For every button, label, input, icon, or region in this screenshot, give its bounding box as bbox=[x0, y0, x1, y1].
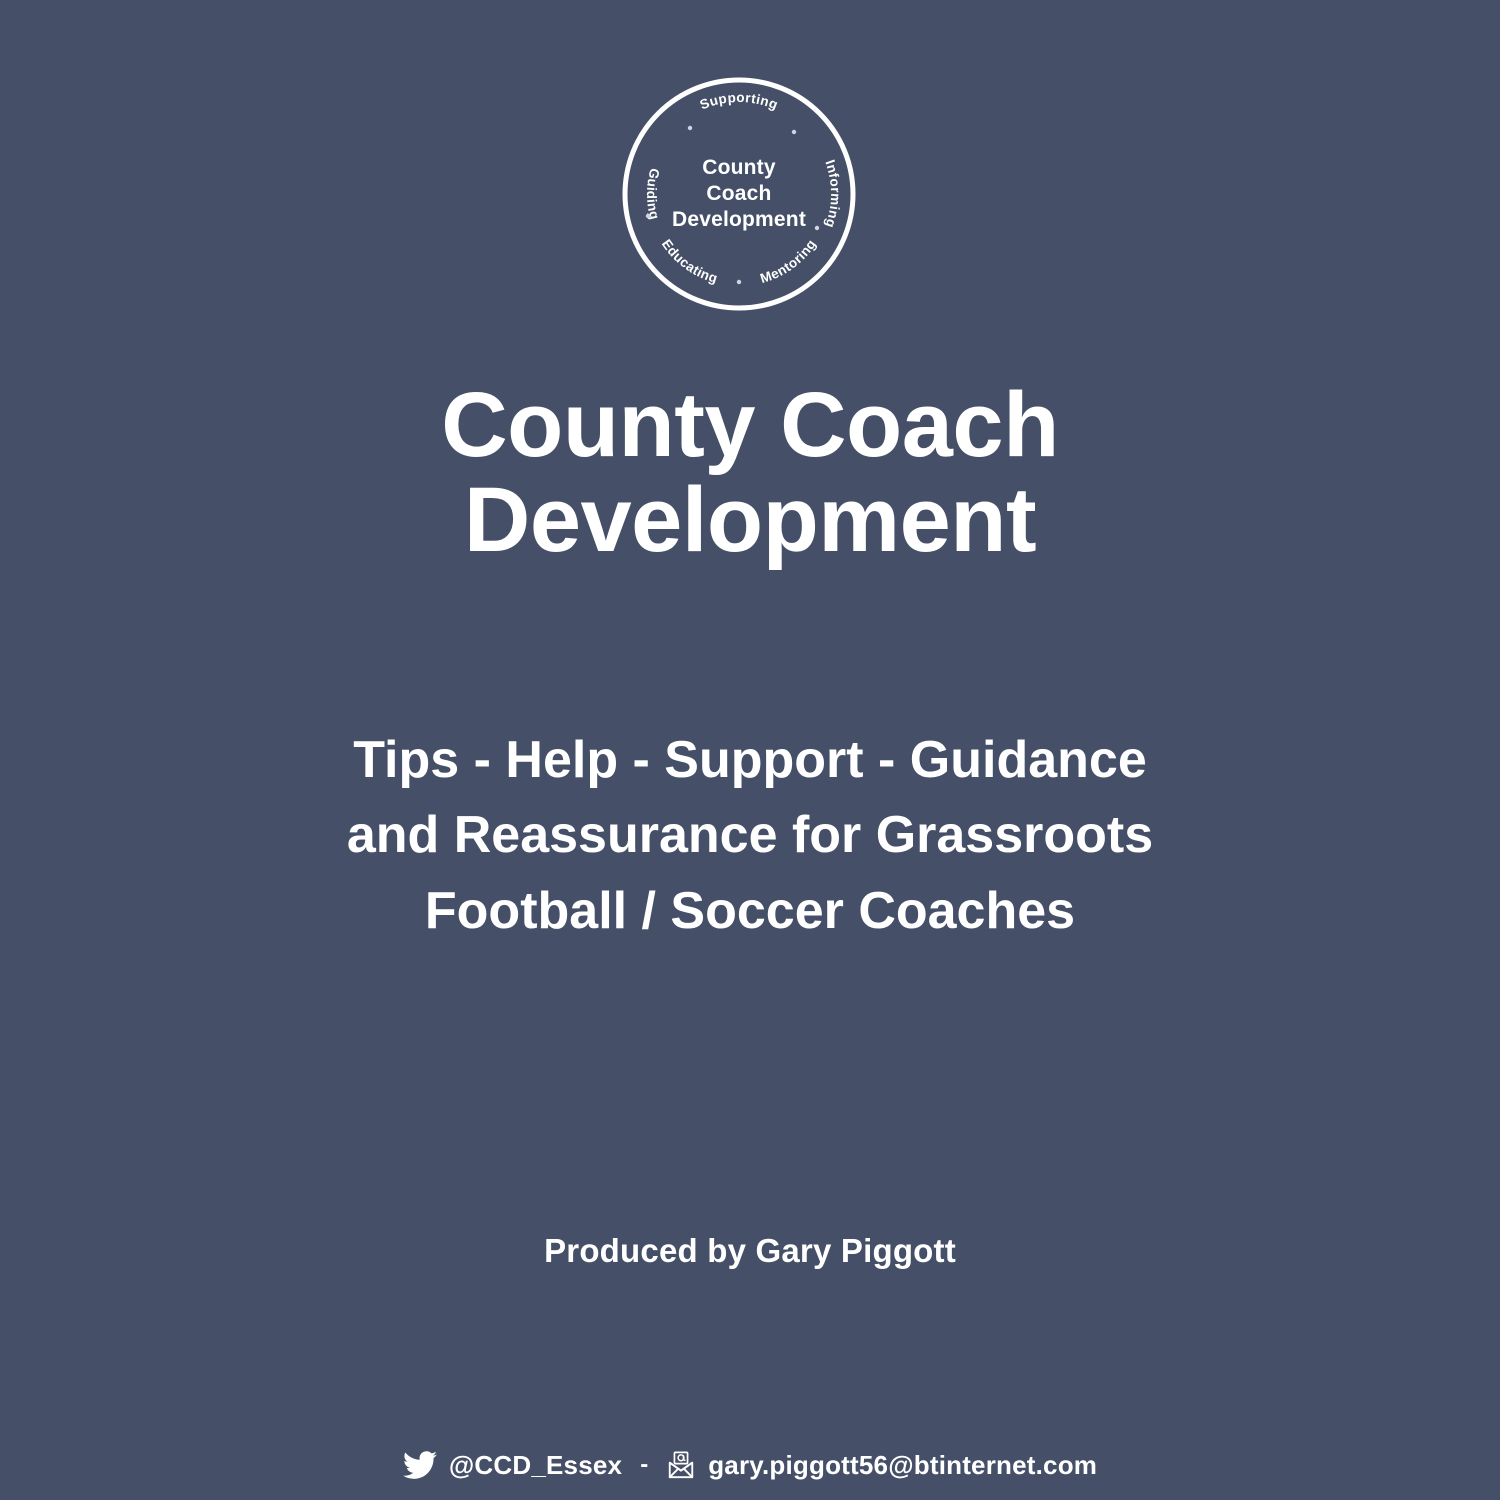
twitter-handle-text: @CCD_Essex bbox=[449, 1450, 622, 1481]
logo-center-line-3: Development bbox=[672, 207, 806, 233]
page-title-line-1: County Coach bbox=[0, 378, 1500, 473]
email-address-item[interactable]: gary.piggott56@btinternet.com bbox=[666, 1450, 1097, 1481]
page-subtitle-line-1: Tips - Help - Support - Guidance bbox=[0, 723, 1500, 798]
twitter-handle-item[interactable]: @CCD_Essex bbox=[403, 1448, 622, 1482]
page-title: County Coach Development bbox=[0, 378, 1500, 568]
envelope-at-icon bbox=[666, 1450, 696, 1480]
logo-center-text: County Coach Development bbox=[621, 76, 857, 312]
author-credit: Produced by Gary Piggott bbox=[0, 1232, 1500, 1270]
page-subtitle: Tips - Help - Support - Guidance and Rea… bbox=[0, 723, 1500, 949]
twitter-bird-icon bbox=[403, 1448, 437, 1482]
logo-center-line-2: Coach bbox=[706, 181, 771, 207]
page-title-line-2: Development bbox=[0, 473, 1500, 568]
email-address-text: gary.piggott56@btinternet.com bbox=[708, 1450, 1097, 1481]
footer-separator: - bbox=[640, 1451, 648, 1479]
logo-center-line-1: County bbox=[702, 155, 776, 181]
logo-badge: Supporting Informing Educating Mentoring… bbox=[621, 76, 857, 312]
page-subtitle-line-2: and Reassurance for Grassroots bbox=[0, 798, 1500, 873]
footer-contact-bar: @CCD_Essex - gary.piggott56@btinternet.c… bbox=[0, 1448, 1500, 1482]
page-subtitle-line-3: Football / Soccer Coaches bbox=[0, 874, 1500, 949]
